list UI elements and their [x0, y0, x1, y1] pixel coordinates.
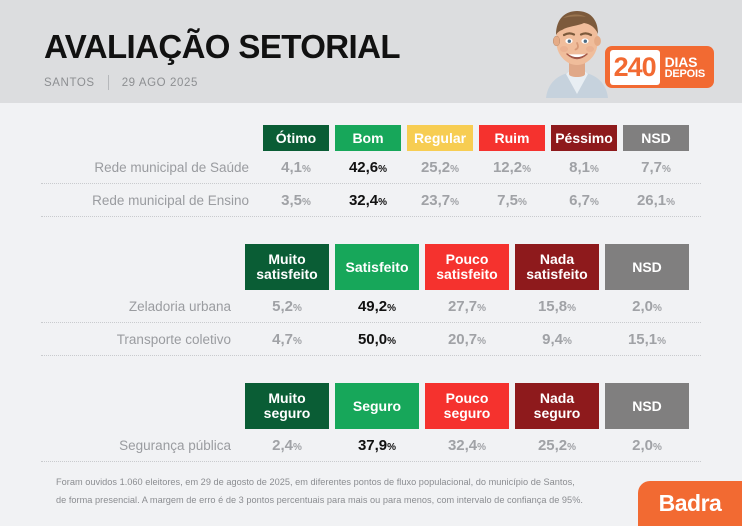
percent-sign: %: [653, 303, 662, 314]
percent-sign: %: [563, 336, 572, 347]
subtitle-divider: [108, 75, 109, 90]
badra-logo: Badra: [638, 481, 742, 526]
value-number: 15,8: [538, 298, 567, 315]
value-cell: 4,1%: [263, 159, 329, 176]
value-number: 15,1: [628, 331, 657, 348]
value-number: 49,2: [358, 298, 387, 315]
value-cell: 26,1%: [623, 192, 689, 209]
value-number: 5,2: [272, 298, 293, 315]
value-number: 25,2: [538, 437, 567, 454]
value-cell: 50,0%: [335, 331, 419, 348]
value-cell: 32,4%: [425, 437, 509, 454]
value-cell: 3,5%: [263, 192, 329, 209]
value-number: 6,7: [569, 192, 590, 209]
table-header-row: Muito satisfeitoSatisfeitoPouco satisfei…: [41, 244, 701, 290]
value-number: 32,4: [448, 437, 477, 454]
table-header-row: Muito seguroSeguroPouco seguroNada segur…: [41, 383, 701, 429]
240-dias-depois-badge: 240 DIAS DEPOIS: [605, 46, 714, 88]
value-number: 32,4: [349, 192, 378, 209]
badge-words: DIAS DEPOIS: [660, 55, 714, 80]
percent-sign: %: [477, 303, 486, 314]
value-cell: 49,2%: [335, 298, 419, 315]
column-header-seguro: Seguro: [335, 383, 419, 429]
table-block-seguranca-publica: Muito seguroSeguroPouco seguroNada segur…: [41, 383, 701, 462]
column-header-regular: Regular: [407, 125, 473, 151]
value-cell: 2,0%: [605, 437, 689, 454]
value-number: 2,0: [632, 298, 653, 315]
row-label: Transporte coletivo: [41, 332, 245, 347]
value-cell: 27,7%: [425, 298, 509, 315]
column-header-muito-satisfeito: Muito satisfeito: [245, 244, 329, 290]
value-cell: 7,7%: [623, 159, 689, 176]
table-row: Transporte coletivo4,7%50,0%20,7%9,4%15,…: [41, 323, 701, 356]
column-header-ruim: Ruim: [479, 125, 545, 151]
badra-logo-text: Badra: [659, 490, 722, 517]
badge-line2: DEPOIS: [665, 69, 705, 80]
row-label: Rede municipal de Ensino: [41, 193, 263, 208]
value-cell: 8,1%: [551, 159, 617, 176]
percent-sign: %: [518, 197, 527, 208]
percent-sign: %: [653, 442, 662, 453]
column-header-pouco-seguro: Pouco seguro: [425, 383, 509, 429]
table-body: Segurança pública2,4%37,9%32,4%25,2%2,0%: [41, 429, 701, 462]
value-cell: 23,7%: [407, 192, 473, 209]
page-footer: Foram ouvidos 1.060 eleitores, em 29 de …: [0, 464, 742, 526]
header-subtitle: SANTOS 29 AGO 2025: [44, 75, 400, 90]
percent-sign: %: [387, 336, 396, 347]
column-header-pouco-satisfeito: Pouco satisfeito: [425, 244, 509, 290]
methodology-line-1: Foram ouvidos 1.060 eleitores, em 29 de …: [56, 474, 583, 492]
badge-line1: DIAS: [665, 55, 705, 69]
value-number: 12,2: [493, 159, 522, 176]
table-row: Segurança pública2,4%37,9%32,4%25,2%2,0%: [41, 429, 701, 462]
column-header-satisfeito: Satisfeito: [335, 244, 419, 290]
table-body: Rede municipal de Saúde4,1%42,6%25,2%12,…: [41, 151, 701, 217]
value-number: 20,7: [448, 331, 477, 348]
column-header-muito-seguro: Muito seguro: [245, 383, 329, 429]
percent-sign: %: [590, 164, 599, 175]
value-cell: 15,1%: [605, 331, 689, 348]
percent-sign: %: [293, 336, 302, 347]
value-cell: 2,0%: [605, 298, 689, 315]
percent-sign: %: [477, 442, 486, 453]
value-number: 9,4: [542, 331, 563, 348]
value-cell: 6,7%: [551, 192, 617, 209]
header-text-group: AVALIAÇÃO SETORIAL SANTOS 29 AGO 2025: [44, 30, 400, 90]
value-cell: 20,7%: [425, 331, 509, 348]
percent-sign: %: [450, 197, 459, 208]
column-header-nsd: NSD: [605, 244, 689, 290]
badge-number: 240: [610, 50, 660, 85]
value-number: 23,7: [421, 192, 450, 209]
value-number: 2,4: [272, 437, 293, 454]
value-cell: 42,6%: [335, 159, 401, 176]
percent-sign: %: [302, 164, 311, 175]
percent-sign: %: [522, 164, 531, 175]
value-cell: 25,2%: [407, 159, 473, 176]
value-cell: 15,8%: [515, 298, 599, 315]
percent-sign: %: [657, 336, 666, 347]
table-row: Rede municipal de Saúde4,1%42,6%25,2%12,…: [41, 151, 701, 184]
methodology-line-2: de forma presencial. A margem de erro é …: [56, 492, 583, 510]
value-cell: 37,9%: [335, 437, 419, 454]
percent-sign: %: [590, 197, 599, 208]
column-header-bom: Bom: [335, 125, 401, 151]
percent-sign: %: [293, 442, 302, 453]
value-cell: 2,4%: [245, 437, 329, 454]
value-cell: 12,2%: [479, 159, 545, 176]
table-header-row: ÓtimoBomRegularRuimPéssimoNSD: [41, 125, 701, 151]
value-cell: 4,7%: [245, 331, 329, 348]
percent-sign: %: [387, 303, 396, 314]
page-header: AVALIAÇÃO SETORIAL SANTOS 29 AGO 2025: [0, 0, 742, 103]
percent-sign: %: [666, 197, 675, 208]
value-cell: 32,4%: [335, 192, 401, 209]
value-number: 7,5: [497, 192, 518, 209]
row-label: Segurança pública: [41, 438, 245, 453]
table-block-avaliacao-servicos: ÓtimoBomRegularRuimPéssimoNSD Rede munic…: [41, 125, 701, 217]
tables-container: ÓtimoBomRegularRuimPéssimoNSD Rede munic…: [0, 103, 742, 462]
table-row: Rede municipal de Ensino3,5%32,4%23,7%7,…: [41, 184, 701, 217]
methodology-note: Foram ouvidos 1.060 eleitores, em 29 de …: [56, 474, 583, 510]
value-cell: 5,2%: [245, 298, 329, 315]
value-number: 4,1: [281, 159, 302, 176]
candidate-caricature-avatar: [540, 2, 614, 98]
page-title: AVALIAÇÃO SETORIAL: [44, 30, 400, 63]
value-cell: 7,5%: [479, 192, 545, 209]
column-header-péssimo: Péssimo: [551, 125, 617, 151]
table-row: Zeladoria urbana5,2%49,2%27,7%15,8%2,0%: [41, 290, 701, 323]
value-number: 7,7: [641, 159, 662, 176]
value-number: 4,7: [272, 331, 293, 348]
column-header-nada-satisfeito: Nada satisfeito: [515, 244, 599, 290]
header-date: 29 AGO 2025: [122, 77, 198, 89]
percent-sign: %: [450, 164, 459, 175]
column-header-nsd: NSD: [623, 125, 689, 151]
value-number: 8,1: [569, 159, 590, 176]
value-number: 50,0: [358, 331, 387, 348]
value-number: 25,2: [421, 159, 450, 176]
table-body: Zeladoria urbana5,2%49,2%27,7%15,8%2,0%T…: [41, 290, 701, 356]
value-number: 2,0: [632, 437, 653, 454]
value-number: 37,9: [358, 437, 387, 454]
value-cell: 25,2%: [515, 437, 599, 454]
column-header-ótimo: Ótimo: [263, 125, 329, 151]
header-city: SANTOS: [44, 77, 95, 89]
row-label: Zeladoria urbana: [41, 299, 245, 314]
row-label: Rede municipal de Saúde: [41, 160, 263, 175]
column-header-nsd: NSD: [605, 383, 689, 429]
value-number: 27,7: [448, 298, 477, 315]
percent-sign: %: [567, 303, 576, 314]
percent-sign: %: [662, 164, 671, 175]
value-number: 42,6: [349, 159, 378, 176]
value-number: 3,5: [281, 192, 302, 209]
table-block-satisfacao-servicos: Muito satisfeitoSatisfeitoPouco satisfei…: [41, 244, 701, 356]
value-number: 26,1: [637, 192, 666, 209]
percent-sign: %: [567, 442, 576, 453]
percent-sign: %: [293, 303, 302, 314]
column-header-nada-seguro: Nada seguro: [515, 383, 599, 429]
percent-sign: %: [302, 197, 311, 208]
percent-sign: %: [378, 164, 387, 175]
percent-sign: %: [387, 442, 396, 453]
percent-sign: %: [378, 197, 387, 208]
percent-sign: %: [477, 336, 486, 347]
value-cell: 9,4%: [515, 331, 599, 348]
